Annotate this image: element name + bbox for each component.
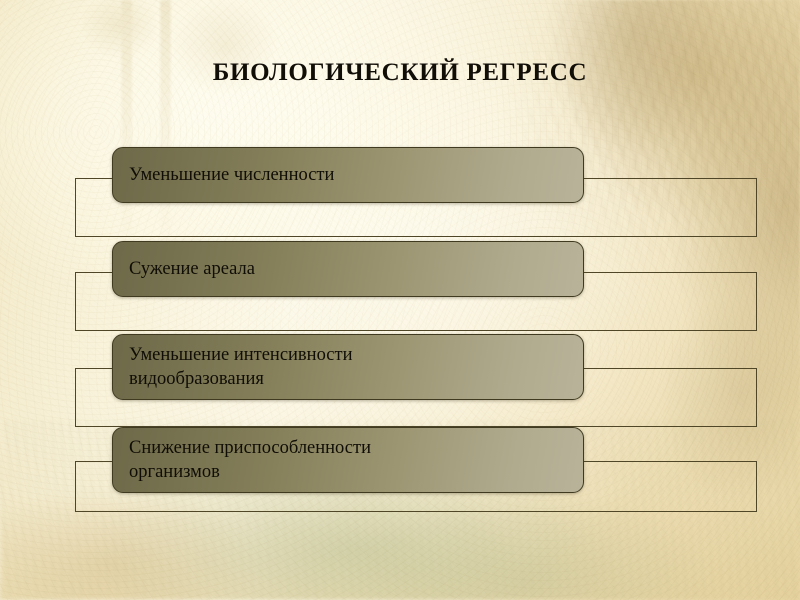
callout-label-2: Сужение ареала — [129, 257, 255, 281]
regress-diagram: Уменьшение численности Сужение ареала Ум… — [0, 0, 800, 600]
callout-box-2[interactable]: Сужение ареала — [112, 241, 584, 297]
callout-label-3: Уменьшение интенсивности видообразования — [129, 343, 352, 392]
slide: БИОЛОГИЧЕСКИЙ РЕГРЕСС Уменьшение численн… — [0, 0, 800, 600]
callout-box-3[interactable]: Уменьшение интенсивности видообразования — [112, 334, 584, 400]
callout-box-1[interactable]: Уменьшение численности — [112, 147, 584, 203]
callout-label-4: Снижение приспособленности организмов — [129, 436, 371, 485]
callout-box-4[interactable]: Снижение приспособленности организмов — [112, 427, 584, 493]
callout-label-1: Уменьшение численности — [129, 163, 334, 187]
page-title: БИОЛОГИЧЕСКИЙ РЕГРЕСС — [0, 59, 800, 87]
